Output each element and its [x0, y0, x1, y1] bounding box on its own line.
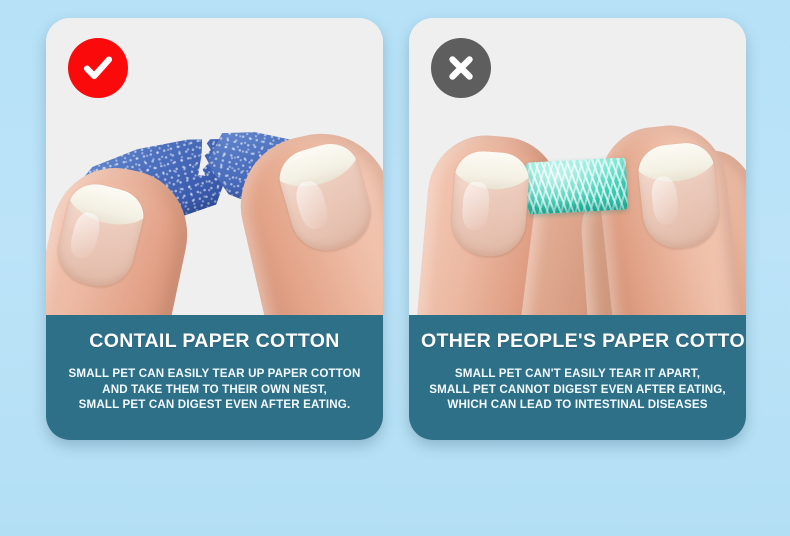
check-icon	[68, 38, 128, 98]
comparison-stage: CONTAIL PAPER COTTON SMALL PET CAN EASIL…	[0, 0, 790, 536]
product-photo-left	[46, 18, 383, 315]
product-photo-right	[409, 18, 746, 315]
comparison-card-right: OTHER PEOPLE'S PAPER COTTON SMALL PET CA…	[409, 18, 746, 440]
caption-banner-left: CONTAIL PAPER COTTON SMALL PET CAN EASIL…	[46, 315, 383, 440]
comparison-card-left: CONTAIL PAPER COTTON SMALL PET CAN EASIL…	[46, 18, 383, 440]
description-line: AND TAKE THEM TO THEIR OWN NEST,	[58, 382, 371, 398]
caption-banner-right: OTHER PEOPLE'S PAPER COTTON SMALL PET CA…	[409, 315, 746, 440]
fingernail-left	[449, 150, 530, 259]
panel-description-left: SMALL PET CAN EASILY TEAR UP PAPER COTTO…	[58, 366, 371, 413]
description-line: SMALL PET CAN'T EASILY TEAR IT APART,	[421, 366, 734, 382]
cross-icon	[431, 38, 491, 98]
panel-description-right: SMALL PET CAN'T EASILY TEAR IT APART, SM…	[421, 366, 734, 413]
description-line: SMALL PET CANNOT DIGEST EVEN AFTER EATIN…	[421, 382, 734, 398]
description-line: WHICH CAN LEAD TO INTESTINAL DISEASES	[421, 397, 734, 413]
description-line: SMALL PET CAN EASILY TEAR UP PAPER COTTO…	[58, 366, 371, 382]
panel-title-left: CONTAIL PAPER COTTON	[58, 331, 371, 352]
teal-cotton-strip	[526, 157, 629, 214]
description-line: SMALL PET CAN DIGEST EVEN AFTER EATING.	[58, 397, 371, 413]
panel-title-right: OTHER PEOPLE'S PAPER COTTON	[421, 331, 734, 352]
